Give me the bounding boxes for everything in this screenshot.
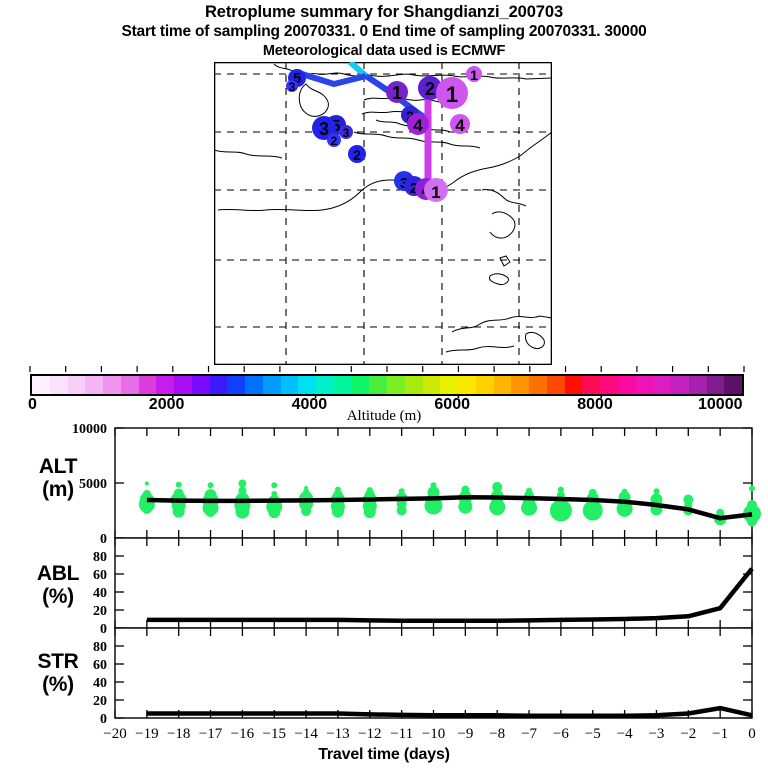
- svg-text:2: 2: [353, 147, 361, 163]
- panel-frame-str: [115, 628, 752, 718]
- colorbar-segment: [263, 376, 281, 394]
- xtick-label: −14: [294, 726, 318, 742]
- colorbar-segment: [476, 376, 494, 394]
- colorbar-segment: [458, 376, 476, 394]
- scatter-point: [145, 482, 149, 486]
- colorbar-segment: [582, 376, 600, 394]
- colorbar-segment: [298, 376, 316, 394]
- colorbar-segment: [192, 376, 210, 394]
- scatter-point: [583, 501, 603, 521]
- ytick-label-alt: 5000: [79, 477, 107, 492]
- colorbar-segment: [227, 376, 245, 394]
- ytick-label-alt: 10000: [72, 422, 107, 437]
- colorbar-segment: [352, 376, 370, 394]
- svg-text:2: 2: [331, 134, 338, 148]
- xtick-label: −15: [263, 726, 286, 742]
- scatter-point: [521, 500, 537, 516]
- svg-text:1: 1: [431, 183, 440, 202]
- colorbar-segment: [494, 376, 512, 394]
- page-title: Retroplume summary for Shangdianzi_20070…: [0, 0, 768, 22]
- scatter-point: [176, 482, 182, 488]
- xtick-label: −3: [648, 726, 664, 742]
- scatter-point: [747, 517, 757, 527]
- xtick-label: 0: [748, 726, 756, 742]
- svg-text:1: 1: [470, 67, 478, 83]
- colorbar-segment: [245, 376, 263, 394]
- svg-text:3: 3: [319, 119, 329, 139]
- ytick-label-abl: 80: [93, 550, 107, 565]
- colorbar-segment: [387, 376, 405, 394]
- xtick-label: −2: [680, 726, 696, 742]
- retroplume-figure: Retroplume summary for Shangdianzi_20070…: [0, 0, 768, 768]
- colorbar-segment: [689, 376, 707, 394]
- colorbar-segment: [85, 376, 103, 394]
- colorbar-segment: [636, 376, 654, 394]
- scatter-point: [749, 486, 755, 492]
- svg-text:1: 1: [392, 83, 402, 103]
- xtick-label: −4: [617, 726, 633, 742]
- colorbar-segment: [369, 376, 387, 394]
- ytick-label-str: 80: [93, 640, 107, 655]
- colorbar-segment: [547, 376, 565, 394]
- colorbar-segment: [618, 376, 636, 394]
- scatter-point: [301, 506, 311, 516]
- colorbar-segment: [316, 376, 334, 394]
- met-data-line: Meteorological data used is ECMWF: [0, 42, 768, 61]
- scatter-point: [458, 500, 472, 514]
- scatter-point: [364, 506, 376, 518]
- colorbar-segment: [405, 376, 423, 394]
- xtick-label: −18: [167, 726, 190, 742]
- retroplume-map: 5 3 1 5 3 1 2 1 2 4 4 3 2 2 3 2 4 1: [214, 62, 552, 365]
- colorbar-segment: [156, 376, 174, 394]
- ytick-label-abl: 20: [93, 604, 107, 619]
- ytick-label-abl: 60: [93, 568, 107, 583]
- scatter-point: [208, 482, 214, 488]
- scatter-point: [206, 507, 216, 517]
- scatter-point: [271, 482, 277, 488]
- xtick-label: −1: [712, 726, 728, 742]
- panel-alt: 0500010000: [72, 422, 761, 547]
- svg-text:1: 1: [446, 82, 458, 107]
- ytick-label-str: 0: [100, 712, 107, 727]
- xtick-label: −6: [553, 726, 569, 742]
- colorbar-segment: [653, 376, 671, 394]
- colorbar-segment: [423, 376, 441, 394]
- svg-text:4: 4: [455, 116, 465, 135]
- scatter-point: [653, 488, 659, 494]
- sampling-time-line: Start time of sampling 20070331. 0 End t…: [0, 22, 768, 42]
- xtick-label: −12: [358, 726, 381, 742]
- colorbar-segment: [68, 376, 86, 394]
- ytick-label-str: 40: [93, 676, 107, 691]
- colorbar-segment: [707, 376, 725, 394]
- xtick-label: −13: [326, 726, 349, 742]
- colorbar-segment: [139, 376, 157, 394]
- ytick-label-str: 60: [93, 658, 107, 673]
- colorbar: [30, 374, 744, 396]
- xtick-label: −19: [135, 726, 158, 742]
- colorbar-segment: [440, 376, 458, 394]
- xtick-label: −17: [199, 726, 223, 742]
- scatter-point: [173, 506, 185, 518]
- svg-text:4: 4: [413, 116, 423, 135]
- title-block: Retroplume summary for Shangdianzi_20070…: [0, 0, 768, 61]
- colorbar-segment: [724, 376, 742, 394]
- colorbar-segment: [32, 376, 50, 394]
- scatter-point: [550, 500, 572, 522]
- colorbar-segment: [671, 376, 689, 394]
- xtick-label: −16: [231, 726, 255, 742]
- colorbar-segment: [529, 376, 547, 394]
- map-frame: [215, 63, 552, 365]
- scatter-point: [235, 505, 249, 519]
- xtick-label: −11: [390, 726, 413, 742]
- xtick-label: −9: [457, 726, 473, 742]
- xtick-label: −7: [521, 726, 537, 742]
- scatter-point: [268, 506, 280, 518]
- colorbar-segment: [121, 376, 139, 394]
- scatter-point: [397, 506, 407, 516]
- colorbar-segment: [334, 376, 352, 394]
- panel-frame-abl: [115, 538, 752, 628]
- xtick-label: −8: [489, 726, 505, 742]
- colorbar-segment: [281, 376, 299, 394]
- ytick-label-alt: 0: [100, 532, 107, 547]
- svg-text:3: 3: [343, 126, 350, 140]
- timeseries-svg: 0500010000020406080020406080−20−19−18−17…: [0, 420, 768, 768]
- map-svg: 5 3 1 5 3 1 2 1 2 4 4 3 2 2 3 2 4 1: [214, 62, 552, 365]
- xtick-label: −10: [422, 726, 445, 742]
- ytick-label-abl: 0: [100, 622, 107, 637]
- timeseries-panels: 0500010000020406080020406080−20−19−18−17…: [0, 420, 768, 768]
- panel-str: 020406080: [93, 628, 752, 727]
- xtick-label: −20: [103, 726, 126, 742]
- scatter-point: [238, 480, 246, 488]
- colorbar-segment: [565, 376, 583, 394]
- scatter-point: [332, 506, 344, 518]
- panel-abl: 020406080: [93, 538, 752, 637]
- colorbar-segment: [50, 376, 68, 394]
- colorbar-segment: [600, 376, 618, 394]
- ytick-label-abl: 40: [93, 586, 107, 601]
- scatter-point: [489, 499, 505, 515]
- xaxis-title: Travel time (days): [0, 746, 768, 764]
- svg-text:3: 3: [289, 80, 296, 94]
- xtick-label: −5: [585, 726, 601, 742]
- svg-text:2: 2: [425, 79, 435, 99]
- colorbar-segment: [103, 376, 121, 394]
- colorbar-segment: [174, 376, 192, 394]
- scatter-point: [142, 504, 152, 514]
- colorbar-segment: [511, 376, 529, 394]
- ytick-label-str: 20: [93, 694, 107, 709]
- colorbar-segment: [210, 376, 228, 394]
